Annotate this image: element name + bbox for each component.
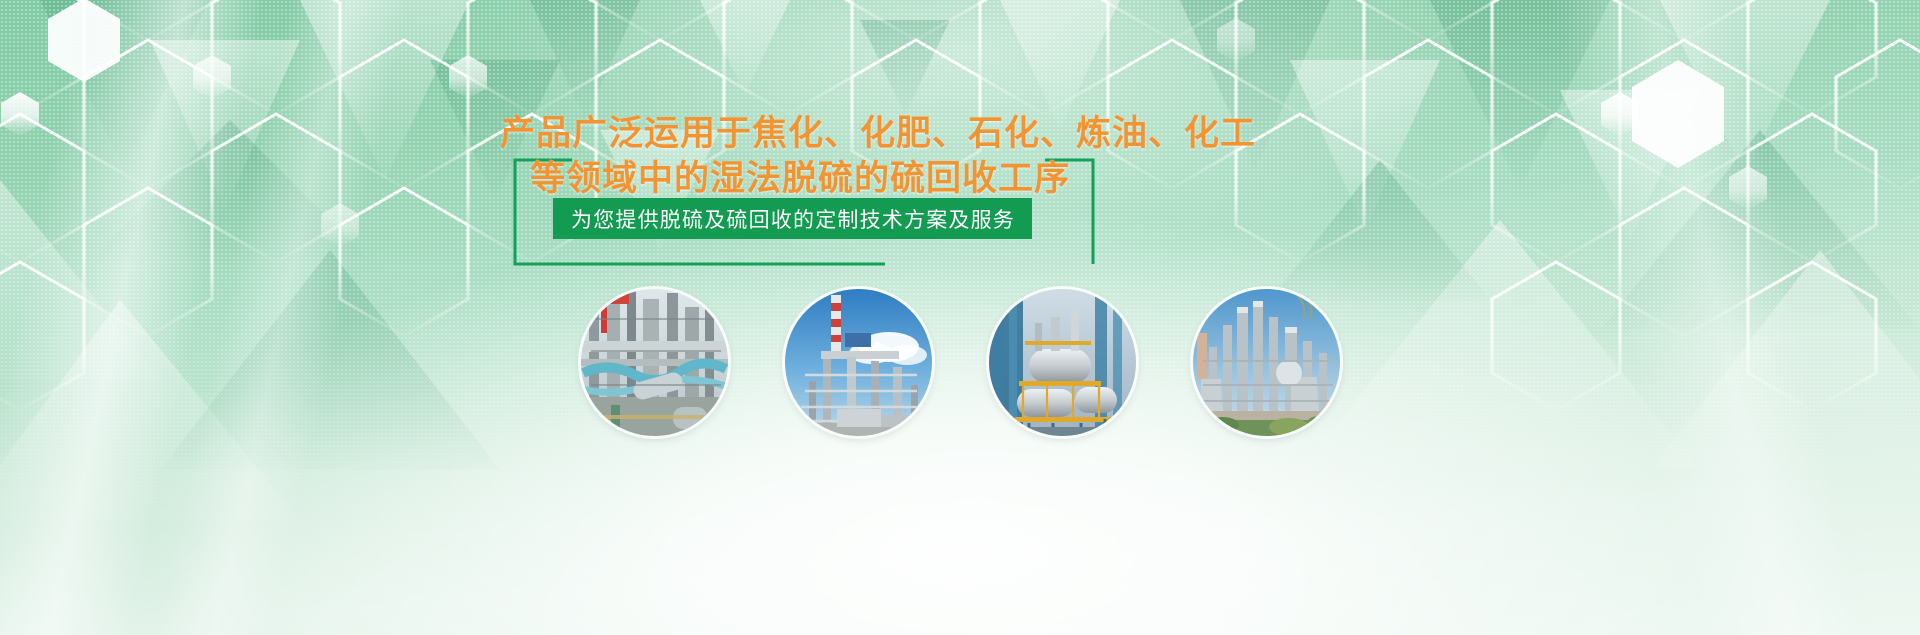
photo-sulfur-recovery-stack-image <box>785 289 932 436</box>
photo-desulfurization-piping[interactable] <box>581 289 728 436</box>
headline: 产品广泛运用于焦化、化肥、石化、炼油、化工 等领域中的湿法脱硫的硫回收工序 <box>500 112 1100 202</box>
photo-sulfur-recovery-stack[interactable] <box>785 289 932 436</box>
photo-desulfurization-piping-image <box>581 289 728 436</box>
photo-row <box>0 289 1920 449</box>
photo-refinery-towers[interactable] <box>1193 289 1340 436</box>
hero-banner: 产品广泛运用于焦化、化肥、石化、炼油、化工 等领域中的湿法脱硫的硫回收工序 为您… <box>0 0 1920 635</box>
photo-chemical-vessels-image <box>989 289 1136 436</box>
subtitle-bar: 为您提供脱硫及硫回收的定制技术方案及服务 <box>553 198 1032 239</box>
headline-line-1: 产品广泛运用于焦化、化肥、石化、炼油、化工 <box>500 114 1256 153</box>
subtitle-text: 为您提供脱硫及硫回收的定制技术方案及服务 <box>571 204 1015 234</box>
photo-chemical-vessels[interactable] <box>989 289 1136 436</box>
photo-refinery-towers-image <box>1193 289 1340 436</box>
headline-line-2: 等领域中的湿法脱硫的硫回收工序 <box>500 157 1100 202</box>
